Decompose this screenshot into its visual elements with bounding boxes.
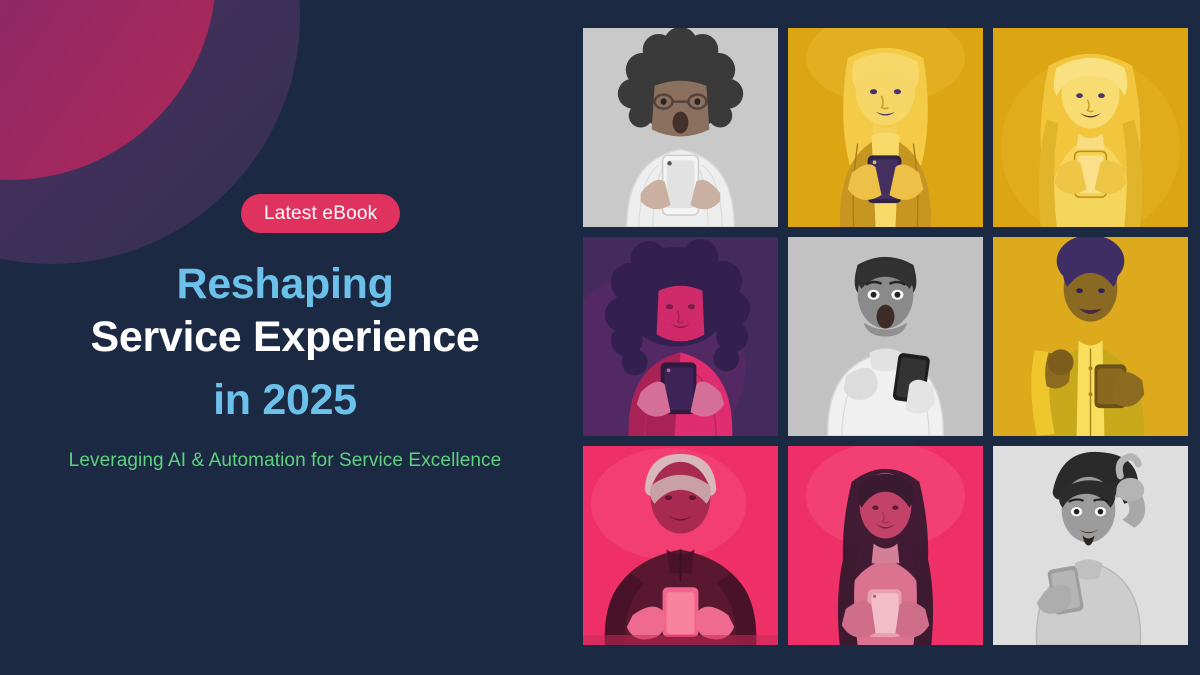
page-title: Reshaping Service Experience in 2025 — [0, 258, 570, 427]
photo-tile-row3-col3 — [993, 446, 1188, 645]
photo-grid — [583, 28, 1188, 645]
subtitle: Leveraging AI & Automation for Service E… — [0, 450, 570, 472]
photo-tile-row1-col1 — [583, 28, 778, 227]
title-line-1: Reshaping — [0, 258, 570, 311]
person-photo-illustration — [788, 237, 983, 436]
photo-tile-row2-col3 — [993, 237, 1188, 436]
person-photo-illustration — [583, 28, 778, 227]
person-photo-illustration — [993, 446, 1188, 645]
person-photo-illustration — [583, 237, 778, 436]
text-column: Latest eBook Reshaping Service Experienc… — [0, 0, 570, 675]
photo-tile-row2-col1 — [583, 237, 778, 436]
photo-tile-row1-col2 — [788, 28, 983, 227]
person-photo-illustration — [788, 28, 983, 227]
person-photo-illustration — [583, 446, 778, 645]
person-photo-illustration — [993, 28, 1188, 227]
photo-tile-row1-col3 — [993, 28, 1188, 227]
latest-ebook-badge: Latest eBook — [241, 194, 400, 233]
photo-tile-row3-col2 — [788, 446, 983, 645]
photo-tile-row3-col1 — [583, 446, 778, 645]
photo-tile-row2-col2 — [788, 237, 983, 436]
title-line-2: Service Experience — [0, 311, 570, 364]
title-line-3: in 2025 — [0, 374, 570, 427]
person-photo-illustration — [993, 237, 1188, 436]
ebook-promo-banner: Latest eBook Reshaping Service Experienc… — [0, 0, 1200, 675]
person-photo-illustration — [788, 446, 983, 645]
